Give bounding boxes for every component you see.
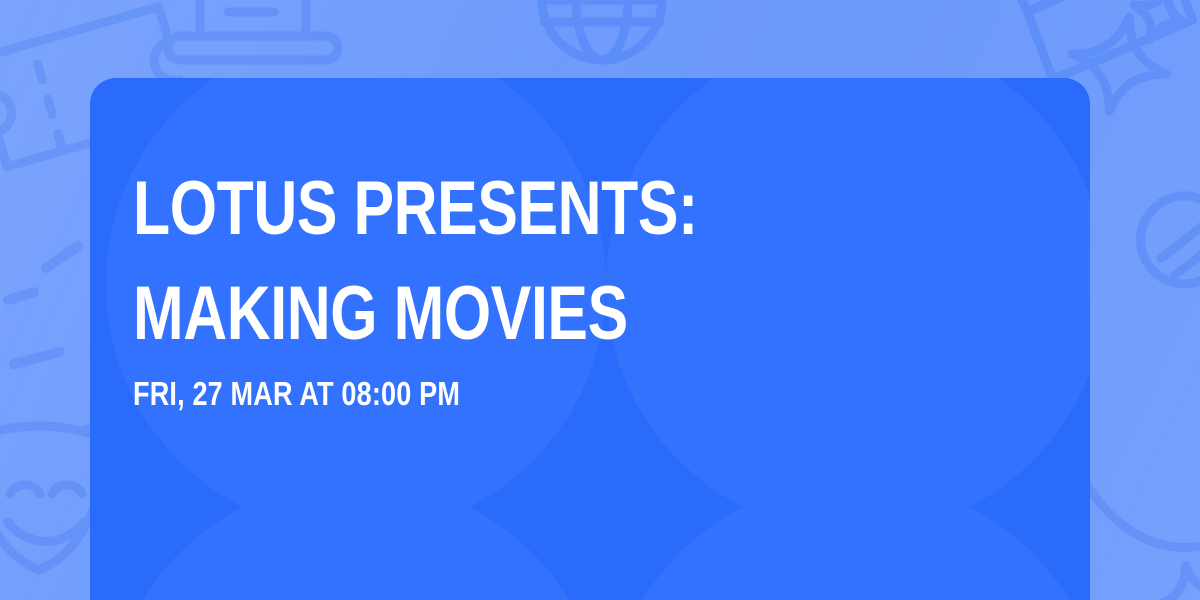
sparkle-icon bbox=[1152, 560, 1200, 600]
card-content: Lotus Presents: Making Movies Fri, 27 Ma… bbox=[133, 78, 1090, 600]
page-title: Lotus Presents: Making Movies bbox=[133, 156, 741, 366]
confetti-icon bbox=[8, 246, 78, 364]
microphone-icon bbox=[1123, 178, 1200, 349]
laptop-icon bbox=[168, 0, 338, 60]
globe-icon bbox=[542, 0, 662, 60]
event-date: Fri, 27 Mar at 08:00 PM bbox=[133, 374, 460, 414]
event-card[interactable]: Lotus Presents: Making Movies Fri, 27 Ma… bbox=[90, 78, 1090, 600]
event-banner: Lotus Presents: Making Movies Fri, 27 Ma… bbox=[0, 0, 1200, 600]
